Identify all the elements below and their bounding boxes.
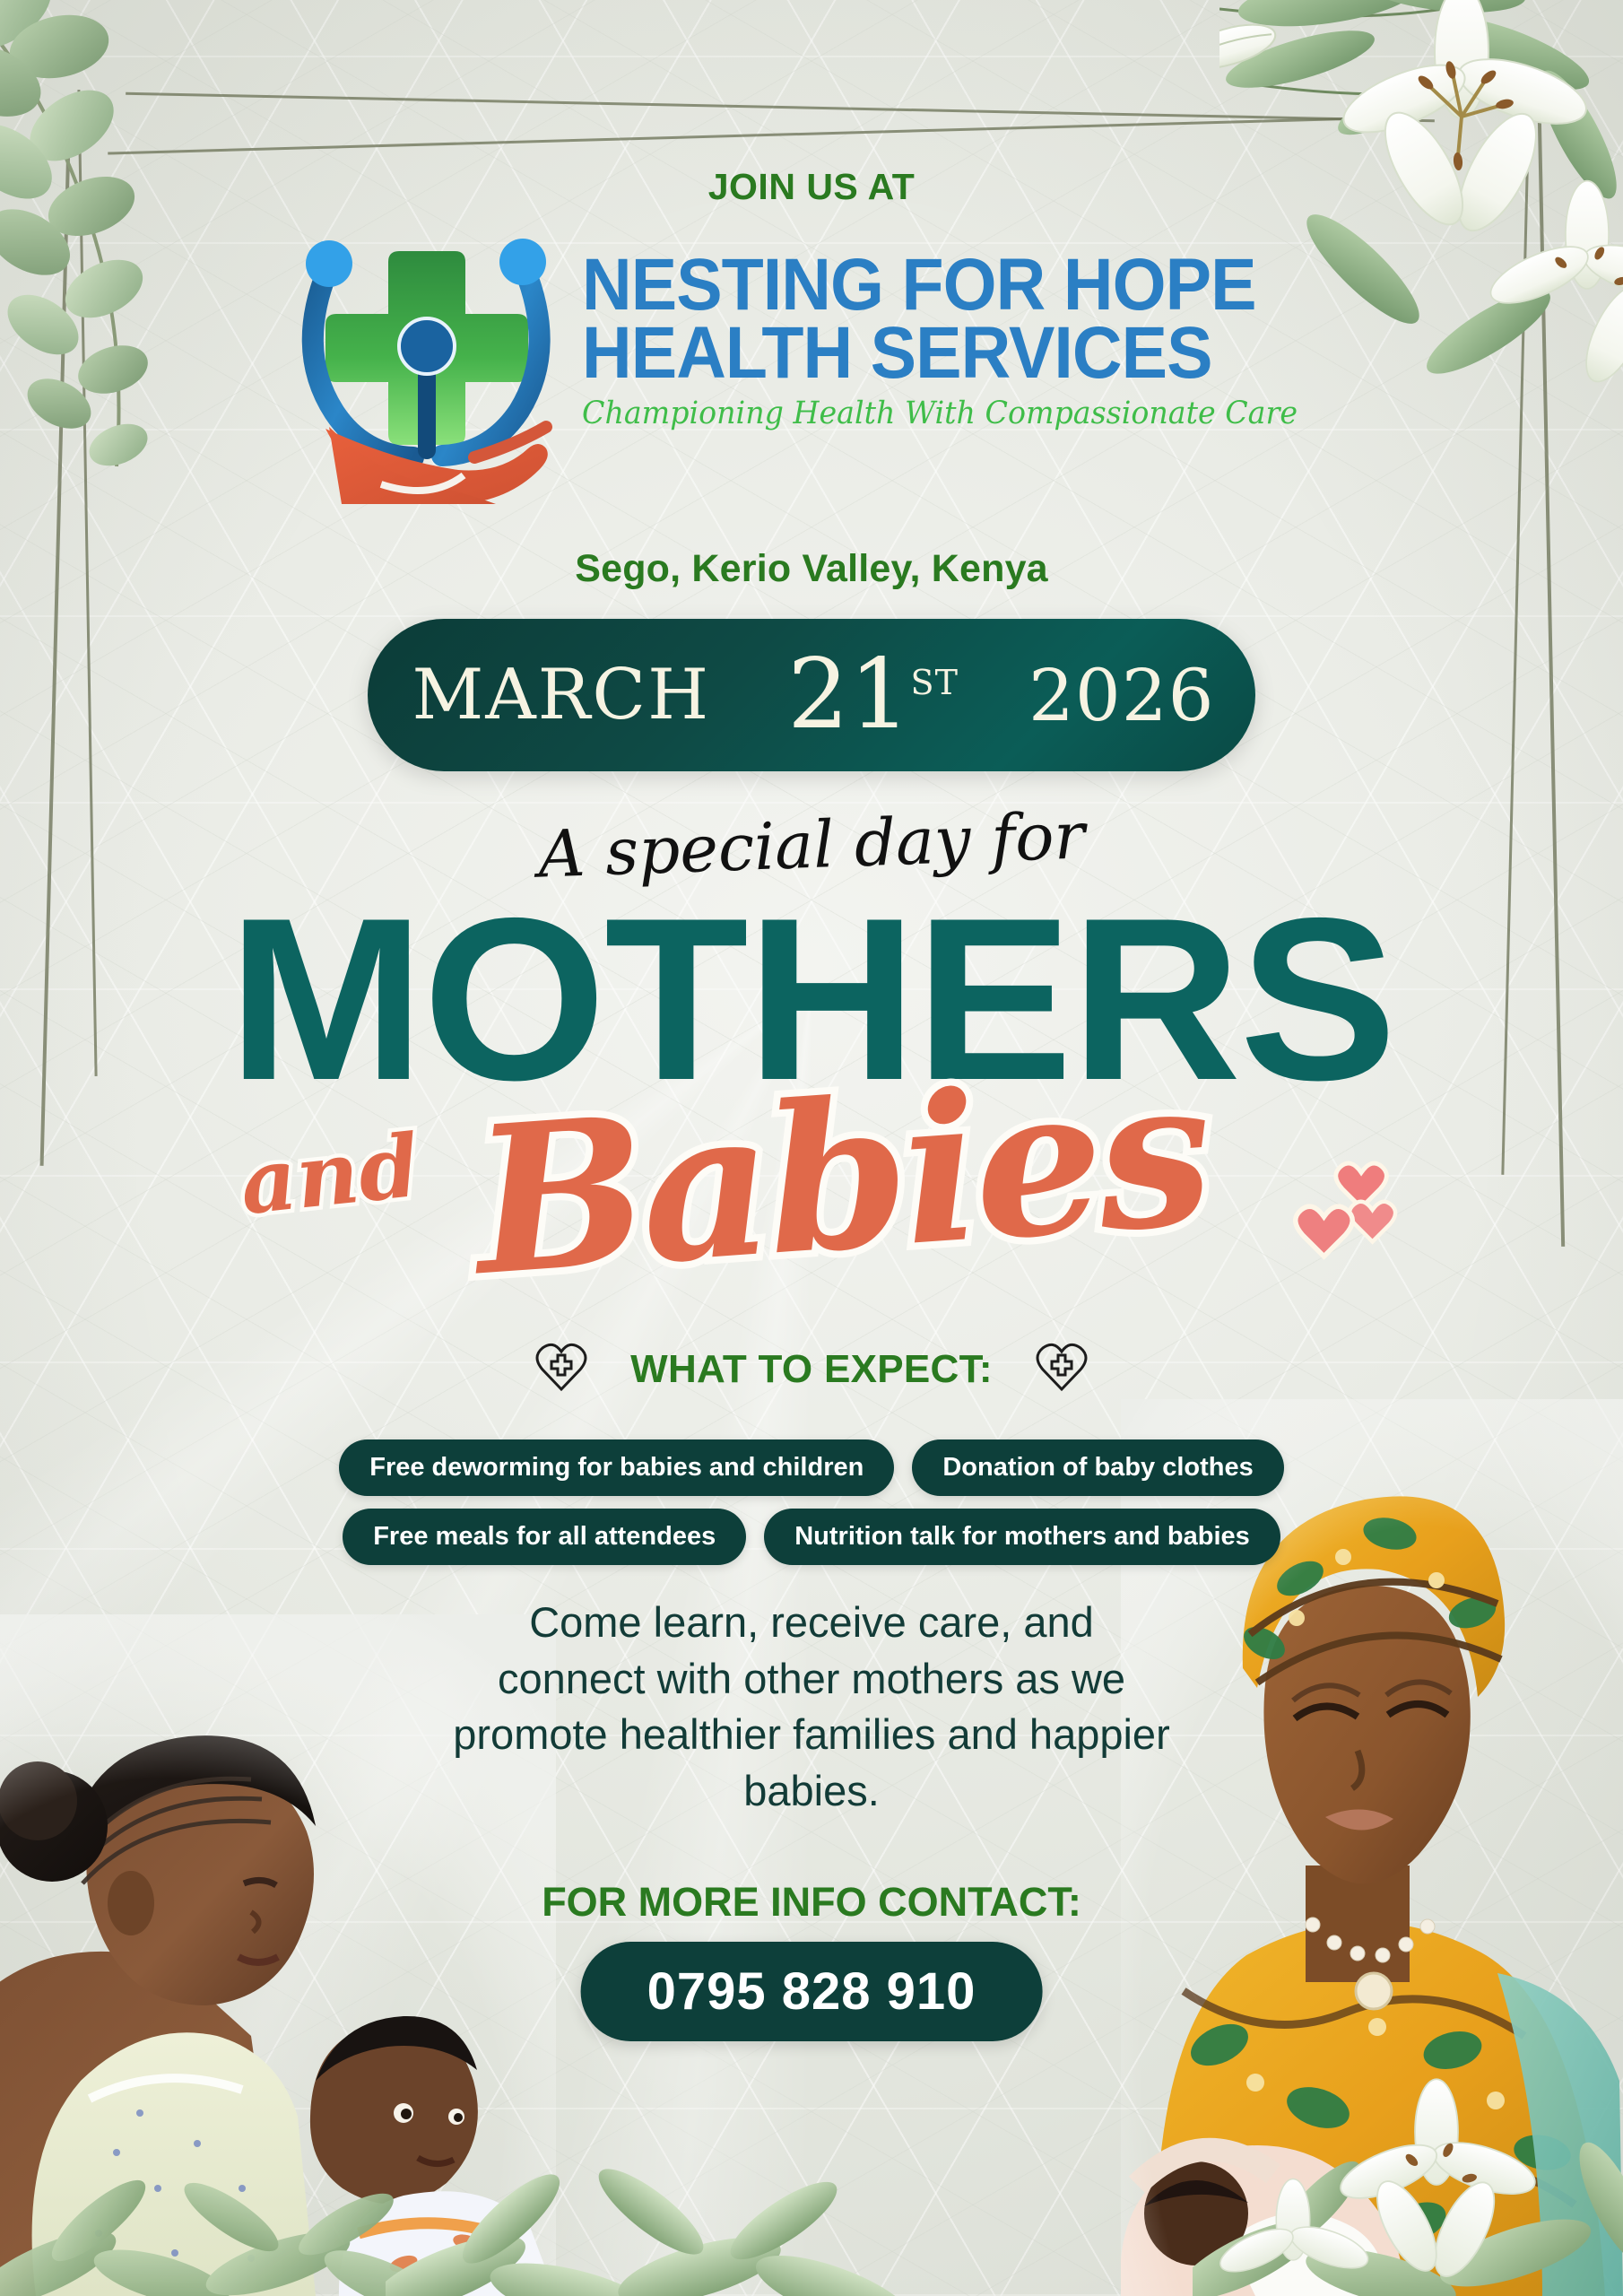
expect-chip[interactable]: Free deworming for babies and children	[339, 1439, 894, 1496]
date-day: 21ST	[760, 647, 982, 744]
expect-chip[interactable]: Free meals for all attendees	[343, 1509, 746, 1565]
headline-babies: Babies	[469, 1051, 1213, 1304]
date-day-suffix: ST	[911, 663, 959, 702]
date-month: MARCH	[361, 655, 760, 735]
expect-chip[interactable]: Donation of baby clothes	[912, 1439, 1283, 1496]
join-us-label: JOIN US AT	[0, 166, 1623, 208]
org-name-line2: HEALTH SERVICES	[582, 319, 1290, 387]
date-year: 2026	[982, 654, 1262, 737]
headline-and: and	[236, 1115, 424, 1234]
poster-canvas: JOIN US AT	[0, 0, 1623, 2296]
date-day-number: 21	[787, 639, 910, 751]
heart-plus-icon-left	[534, 1339, 589, 1399]
event-date-badge: MARCH 21ST 2026	[368, 619, 1255, 771]
org-name-line1: NESTING FOR HOPE	[582, 251, 1290, 319]
medical-cross-stethoscope-hand-logo-icon	[288, 235, 566, 504]
event-description: Come learn, receive care, and connect wi…	[453, 1595, 1170, 1819]
hearts-cluster-icon	[1293, 1152, 1401, 1269]
expect-chip-list: Free deworming for babies and children D…	[0, 1439, 1623, 1565]
what-to-expect-header: WHAT TO EXPECT:	[0, 1339, 1623, 1399]
event-location: Sego, Kerio Valley, Kenya	[0, 547, 1623, 591]
headline-block: MOTHERS Babies and	[0, 883, 1623, 1305]
org-tagline: Championing Health With Compassionate Ca…	[582, 396, 1298, 431]
contact-title: FOR MORE INFO CONTACT:	[0, 1879, 1623, 1926]
heart-plus-icon-right	[1034, 1339, 1089, 1399]
contact-phone-badge[interactable]: 0795 828 910	[581, 1942, 1043, 2041]
organization-logo-block: NESTING FOR HOPE HEALTH SERVICES Champio…	[0, 235, 1623, 504]
organization-name-block: NESTING FOR HOPE HEALTH SERVICES Champio…	[582, 235, 1335, 431]
expect-chip-row-1: Free deworming for babies and children D…	[339, 1439, 1284, 1496]
expect-chip[interactable]: Nutrition talk for mothers and babies	[764, 1509, 1280, 1565]
what-to-expect-title: WHAT TO EXPECT:	[630, 1347, 993, 1392]
expect-chip-row-2: Free meals for all attendees Nutrition t…	[343, 1509, 1280, 1565]
